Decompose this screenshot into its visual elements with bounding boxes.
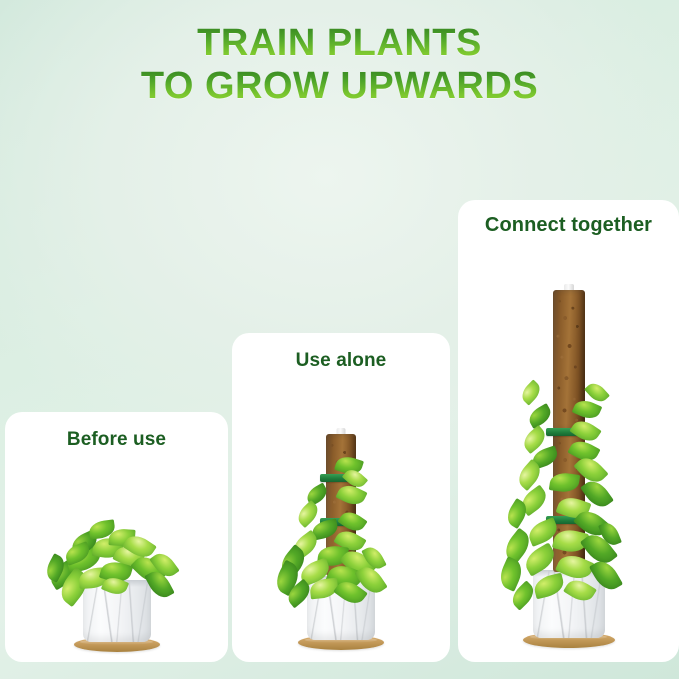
title-line-2: TO GROW UPWARDS <box>0 65 679 108</box>
title-line-1: TRAIN PLANTS <box>0 22 679 65</box>
page-title: TRAIN PLANTS TO GROW UPWARDS <box>0 22 679 107</box>
card-label-connect-together: Connect together <box>458 214 679 237</box>
infographic-canvas: TRAIN PLANTS TO GROW UPWARDS Before use <box>0 0 679 679</box>
scene-connect-together <box>458 242 679 662</box>
card-connect-together: Connect together <box>458 200 679 662</box>
card-use-alone: Use alone <box>232 333 450 662</box>
card-before-use: Before use <box>5 412 228 662</box>
scene-before-use <box>5 442 228 662</box>
scene-use-alone <box>232 372 450 662</box>
card-label-use-alone: Use alone <box>232 350 450 372</box>
